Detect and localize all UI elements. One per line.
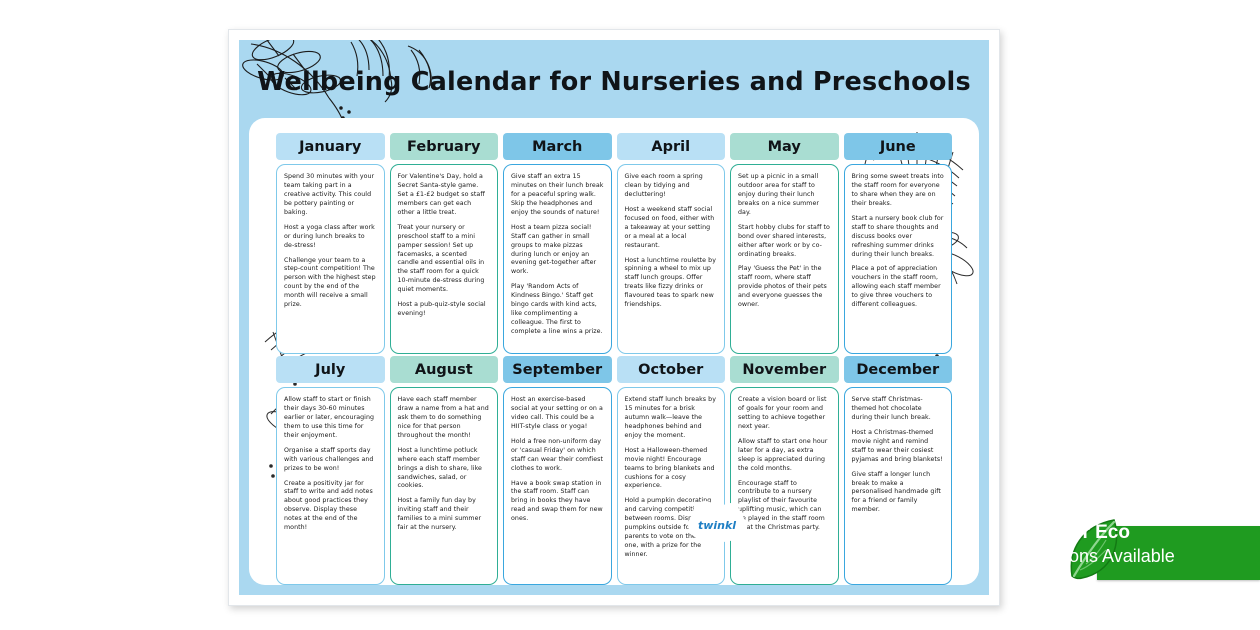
month-entry: Host a pub-quiz-style social evening! (398, 301, 491, 319)
month-body-may: Set up a picnic in a small outdoor area … (730, 164, 839, 354)
month-body-july: Allow staff to start or finish their day… (276, 387, 385, 585)
month-entry: Give each room a spring clean by tidying… (625, 173, 718, 200)
month-column-may: May Set up a picnic in a small outdoor a… (730, 133, 839, 354)
month-entry: Spend 30 minutes with your team taking p… (284, 173, 377, 218)
month-entry: Organise a staff sports day with various… (284, 447, 377, 474)
month-entry: Play 'Guess the Pet' in the staff room, … (738, 265, 831, 310)
month-column-august: August Have each staff member draw a nam… (390, 356, 499, 585)
month-column-november: November Create a vision board or list o… (730, 356, 839, 585)
month-entry: Place a pot of appreciation vouchers in … (852, 265, 945, 310)
month-entry: Create a vision board or list of goals f… (738, 396, 831, 432)
month-entry: Host a family fun day by inviting staff … (398, 497, 491, 533)
month-entry: Allow staff to start one hour later for … (738, 438, 831, 474)
month-entry: Set up a picnic in a small outdoor area … (738, 173, 831, 218)
month-column-september: September Host an exercise-based social … (503, 356, 612, 585)
month-column-april: April Give each room a spring clean by t… (617, 133, 726, 354)
month-entry: Host a yoga class after work or during l… (284, 224, 377, 251)
month-header-july[interactable]: July (276, 356, 385, 383)
month-header-august[interactable]: August (390, 356, 499, 383)
month-entry: Host a Halloween-themed movie night! Enc… (625, 447, 718, 492)
month-header-december[interactable]: December (844, 356, 953, 383)
month-column-february: February For Valentine's Day, hold a Sec… (390, 133, 499, 354)
month-entry: Hold a free non-uniform day or 'casual F… (511, 438, 604, 474)
month-entry: Play 'Random Acts of Kindness Bingo.' St… (511, 283, 604, 337)
month-header-june[interactable]: June (844, 133, 953, 160)
month-entry: Give staff a longer lunch break to make … (852, 471, 945, 516)
month-entry: Bring some sweet treats into the staff r… (852, 173, 945, 209)
month-entry: Host a team pizza social! Staff can gath… (511, 224, 604, 278)
twinkl-wordmark: twinkl (688, 508, 746, 542)
month-body-october: Extend staff lunch breaks by 15 minutes … (617, 387, 726, 585)
month-entry: Have each staff member draw a name from … (398, 396, 491, 441)
month-entry: Host a lunchtime potluck where each staf… (398, 447, 491, 492)
calendar-row-second-half: July Allow staff to start or finish thei… (276, 356, 952, 585)
month-column-october: October Extend staff lunch breaks by 15 … (617, 356, 726, 585)
month-body-april: Give each room a spring clean by tidying… (617, 164, 726, 354)
month-body-august: Have each staff member draw a name from … (390, 387, 499, 585)
screenshot-canvas: Wellbeing Calendar for Nurseries and Pre… (0, 0, 1260, 630)
month-column-july: July Allow staff to start or finish thei… (276, 356, 385, 585)
month-entry: Host a lunchtime roulette by spinning a … (625, 257, 718, 311)
month-entry: Start hobby clubs for staff to bond over… (738, 224, 831, 260)
month-header-march[interactable]: March (503, 133, 612, 160)
page-title: Wellbeing Calendar for Nurseries and Pre… (239, 67, 989, 97)
month-body-june: Bring some sweet treats into the staff r… (844, 164, 953, 354)
eco-title: Super Eco (1036, 522, 1130, 544)
month-entry: Start a nursery book club for staff to s… (852, 215, 945, 260)
month-header-april[interactable]: April (617, 133, 726, 160)
month-body-november: Create a vision board or list of goals f… (730, 387, 839, 585)
header-band: Wellbeing Calendar for Nurseries and Pre… (239, 40, 989, 123)
month-header-september[interactable]: September (503, 356, 612, 383)
month-header-october[interactable]: October (617, 356, 726, 383)
super-eco-badge[interactable]: Super Eco Options Available (1022, 518, 1260, 584)
month-entry: Give staff an extra 15 minutes on their … (511, 173, 604, 218)
month-column-march: March Give staff an extra 15 minutes on … (503, 133, 612, 354)
calendar-sheet: Wellbeing Calendar for Nurseries and Pre… (228, 29, 1000, 606)
month-body-december: Serve staff Christmas-themed hot chocola… (844, 387, 953, 585)
month-header-january[interactable]: January (276, 133, 385, 160)
month-entry: Host an exercise-based social at your se… (511, 396, 604, 432)
month-entry: Allow staff to start or finish their day… (284, 396, 377, 441)
month-entry: Host a weekend staff social focused on f… (625, 206, 718, 251)
month-entry: Create a positivity jar for staff to wri… (284, 480, 377, 534)
month-entry: Encourage staff to contribute to a nurse… (738, 480, 831, 534)
month-entry: Host a Christmas-themed movie night and … (852, 429, 945, 465)
month-column-june: June Bring some sweet treats into the st… (844, 133, 953, 354)
month-entry: Extend staff lunch breaks by 15 minutes … (625, 396, 718, 441)
calendar-sheet-inner: Wellbeing Calendar for Nurseries and Pre… (239, 40, 989, 595)
month-header-february[interactable]: February (390, 133, 499, 160)
eco-subtitle: Options Available (1036, 546, 1175, 567)
month-entry: For Valentine's Day, hold a Secret Santa… (398, 173, 491, 218)
month-body-september: Host an exercise-based social at your se… (503, 387, 612, 585)
month-body-january: Spend 30 minutes with your team taking p… (276, 164, 385, 354)
calendar-row-first-half: January Spend 30 minutes with your team … (276, 133, 952, 354)
month-header-november[interactable]: November (730, 356, 839, 383)
calendar-content-card: January Spend 30 minutes with your team … (249, 118, 979, 585)
month-entry: Serve staff Christmas-themed hot chocola… (852, 396, 945, 423)
twinkl-logo: twinkl (688, 508, 746, 542)
month-entry: Have a book swap station in the staff ro… (511, 480, 604, 525)
month-column-december: December Serve staff Christmas-themed ho… (844, 356, 953, 585)
month-header-may[interactable]: May (730, 133, 839, 160)
month-body-february: For Valentine's Day, hold a Secret Santa… (390, 164, 499, 354)
month-entry: Challenge your team to a step-count comp… (284, 257, 377, 311)
month-body-march: Give staff an extra 15 minutes on their … (503, 164, 612, 354)
month-column-january: January Spend 30 minutes with your team … (276, 133, 385, 354)
month-entry: Treat your nursery or preschool staff to… (398, 224, 491, 296)
